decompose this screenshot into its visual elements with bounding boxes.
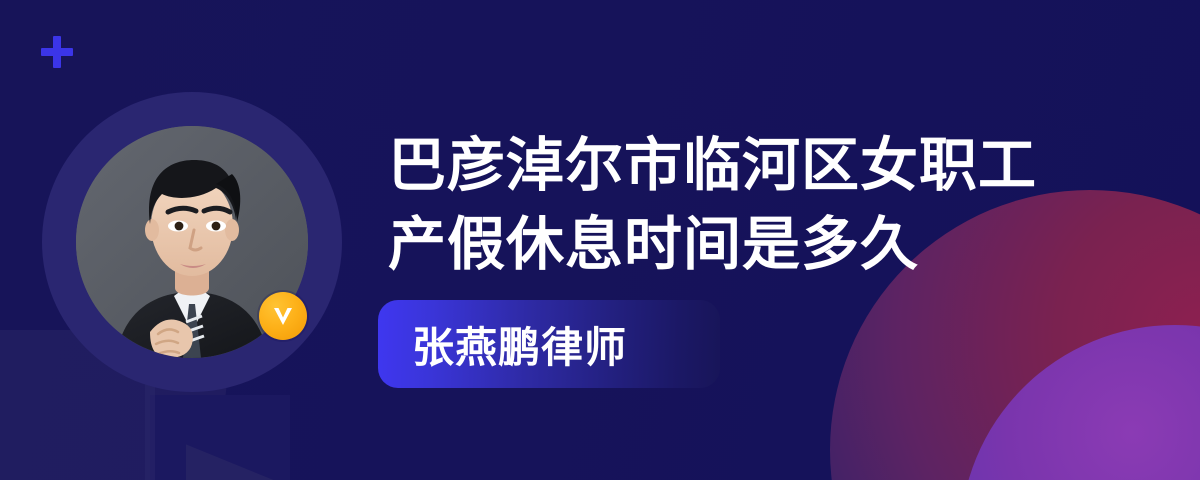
article-cover-banner: 巴彦淖尔市临河区女职工 产假休息时间是多久 张燕鹏律师 xyxy=(0,0,1200,480)
verified-v-icon xyxy=(259,292,307,340)
page-title: 巴彦淖尔市临河区女职工 产假休息时间是多久 xyxy=(388,126,1088,284)
plus-icon xyxy=(40,35,74,69)
avatar xyxy=(42,92,342,392)
author-badge[interactable]: 张燕鹏律师 xyxy=(378,300,720,388)
author-name-label: 张燕鹏律师 xyxy=(412,314,627,375)
